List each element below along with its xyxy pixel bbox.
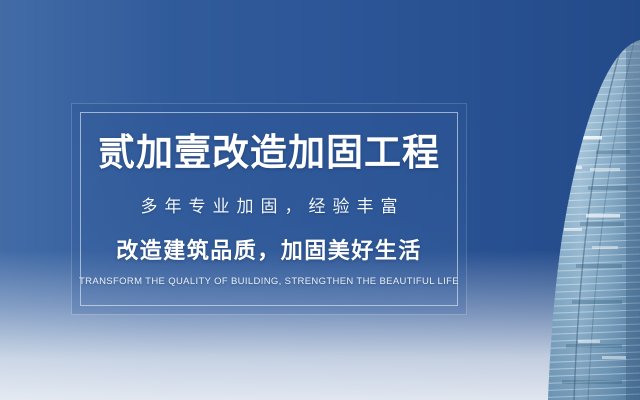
skyscraper-icon xyxy=(530,0,640,400)
headline-panel: 贰加壹改造加固工程 多年专业加固，经验丰富 改造建筑品质，加固美好生活 TRAN… xyxy=(72,104,466,314)
panel-content: 贰加壹改造加固工程 多年专业加固，经验丰富 改造建筑品质，加固美好生活 TRAN… xyxy=(72,104,466,314)
banner-headline: 贰加壹改造加固工程 xyxy=(98,132,440,173)
banner-tagline: 改造建筑品质，加固美好生活 xyxy=(116,233,422,265)
skyscraper-photo xyxy=(530,0,640,400)
banner-subline: 多年专业加固，经验丰富 xyxy=(134,192,405,217)
banner-english-tagline: TRANSFORM THE QUALITY OF BUILDING, STREN… xyxy=(79,276,459,287)
hero-banner: 贰加壹改造加固工程 多年专业加固，经验丰富 改造建筑品质，加固美好生活 TRAN… xyxy=(0,0,640,400)
